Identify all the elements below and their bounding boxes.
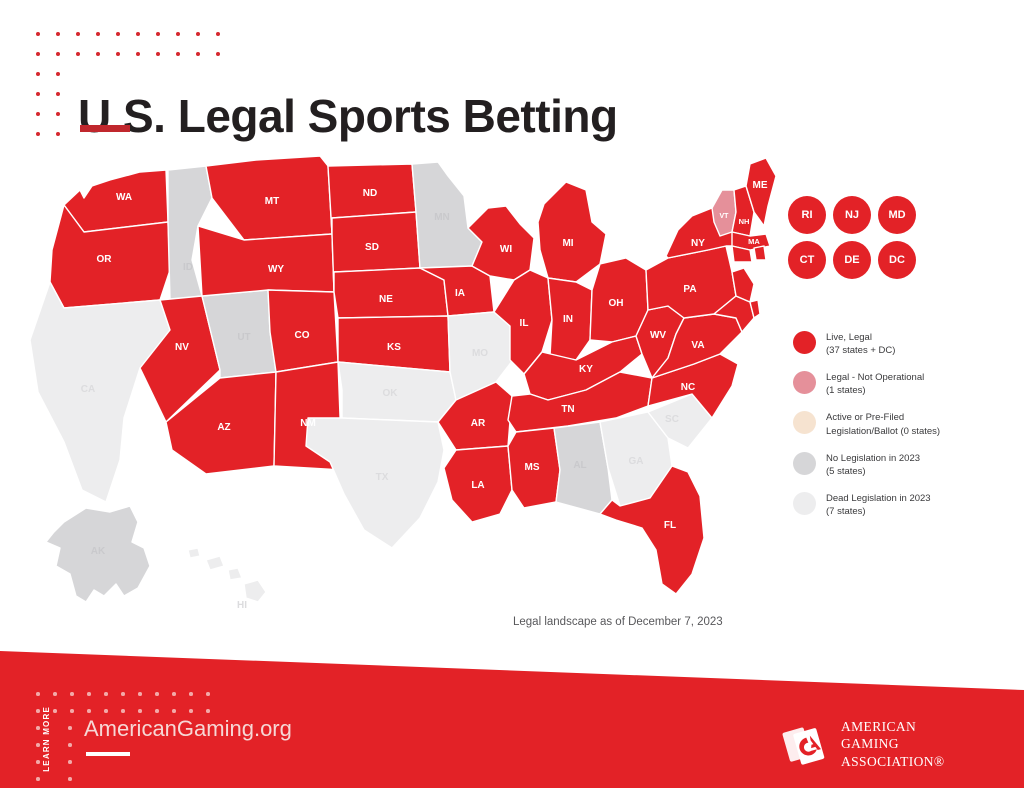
footer-dot: [36, 777, 40, 781]
footer-dot: [36, 709, 40, 713]
circle-state-label: RI: [802, 209, 813, 221]
footer-dot: [68, 726, 72, 730]
legend-item-label: No Legislation in 2023: [826, 452, 920, 465]
header-dot: [56, 52, 60, 56]
state-MI[interactable]: [538, 182, 606, 282]
footer-dot: [68, 777, 72, 781]
legend-item-count: (37 states + DC): [826, 344, 895, 357]
legal-landscape-caption: Legal landscape as of December 7, 2023: [513, 616, 723, 628]
circle-state-ri[interactable]: RI: [788, 196, 826, 234]
state-OK[interactable]: [338, 362, 456, 422]
website-link-underline: [86, 752, 130, 756]
circle-state-label: DE: [844, 254, 859, 266]
circle-state-label: NJ: [845, 209, 859, 221]
state-MN[interactable]: [412, 162, 482, 268]
circle-state-dc[interactable]: DC: [878, 241, 916, 279]
header-dot: [76, 52, 80, 56]
aga-line-3: ASSOCIATION®: [841, 753, 945, 770]
aga-logo[interactable]: AMERICAN GAMING ASSOCIATION®: [782, 718, 945, 770]
footer-dot: [53, 692, 57, 696]
legend-item-label: Live, Legal: [826, 331, 895, 344]
header-dot: [176, 32, 180, 36]
header-dot: [36, 112, 40, 116]
state-CO[interactable]: [268, 290, 338, 372]
footer-dot: [206, 692, 210, 696]
header-dot: [156, 32, 160, 36]
circle-state-label: MD: [888, 209, 905, 221]
footer-dot: [87, 692, 91, 696]
page-title: U.S. Legal Sports Betting: [78, 93, 618, 139]
legend-item-text: No Legislation in 2023(5 states): [826, 451, 920, 478]
legend-item-count: (5 states): [826, 465, 920, 478]
circle-state-label: CT: [800, 254, 815, 266]
header-dot: [196, 52, 200, 56]
circle-state-ct[interactable]: CT: [788, 241, 826, 279]
state-AK[interactable]: [46, 506, 150, 602]
aga-line-2: GAMING: [841, 735, 945, 752]
legend-item-text: Active or Pre-FiledLegislation/Ballot (0…: [826, 410, 940, 437]
footer-dot: [172, 692, 176, 696]
state-NE[interactable]: [334, 268, 448, 318]
footer-dot: [138, 709, 142, 713]
state-WA[interactable]: [64, 170, 168, 232]
header-dot: [216, 52, 220, 56]
circle-state-md[interactable]: MD: [878, 196, 916, 234]
map-label-HI: HI: [237, 600, 247, 611]
footer-dot: [68, 743, 72, 747]
circle-state-group: RINJMDCTDEDC: [788, 196, 928, 280]
header-dot: [116, 52, 120, 56]
footer-dot: [53, 709, 57, 713]
legend-item-text: Live, Legal(37 states + DC): [826, 330, 895, 357]
aga-logo-text: AMERICAN GAMING ASSOCIATION®: [841, 718, 945, 770]
us-map-svg: WA OR CA ID NV UT AZ NM MT WY CO ND SD N…: [20, 150, 780, 630]
footer-dot: [189, 692, 193, 696]
footer-dot: [189, 709, 193, 713]
header-dot: [56, 92, 60, 96]
us-map: WA OR CA ID NV UT AZ NM MT WY CO ND SD N…: [20, 150, 780, 630]
circle-state-de[interactable]: DE: [833, 241, 871, 279]
footer-dot: [70, 692, 74, 696]
legend-item-2[interactable]: Legal - Not Operational(1 states): [793, 370, 993, 397]
legend-swatch-prefiled: [793, 411, 816, 434]
legend-item-text: Legal - Not Operational(1 states): [826, 370, 924, 397]
state-HI[interactable]: [188, 548, 266, 602]
state-MO[interactable]: [448, 312, 516, 400]
footer-dot: [36, 692, 40, 696]
header-dot: [36, 132, 40, 136]
circle-state-label: DC: [889, 254, 905, 266]
legend-swatch-not-operational: [793, 371, 816, 394]
header-dot: [116, 32, 120, 36]
aga-line-1: AMERICAN: [841, 718, 945, 735]
footer-dot: [172, 709, 176, 713]
legend-item-count: (1 states): [826, 384, 924, 397]
state-MS[interactable]: [508, 428, 560, 508]
header-dot: [36, 72, 40, 76]
header-dot: [176, 52, 180, 56]
legend-item-3[interactable]: Active or Pre-FiledLegislation/Ballot (0…: [793, 410, 993, 437]
footer-dot: [121, 709, 125, 713]
state-CA[interactable]: [30, 282, 170, 502]
header-dot: [56, 112, 60, 116]
footer-dot: [68, 760, 72, 764]
legend-item-count: (7 states): [826, 505, 931, 518]
legend-item-5[interactable]: Dead Legislation in 2023(7 states): [793, 491, 993, 518]
circle-state-nj[interactable]: NJ: [833, 196, 871, 234]
header-dot: [56, 72, 60, 76]
legend-swatch-dead-legislation: [793, 492, 816, 515]
legend-item-label: Active or Pre-Filed: [826, 411, 940, 424]
state-IN[interactable]: [548, 278, 592, 360]
header-dot: [196, 32, 200, 36]
footer-dot: [36, 760, 40, 764]
header-dot: [56, 32, 60, 36]
footer-dot: [206, 709, 210, 713]
header-dot: [76, 32, 80, 36]
header-dot: [96, 32, 100, 36]
learn-more-label: LEARN MORE: [42, 706, 51, 772]
footer-dot: [104, 709, 108, 713]
website-link[interactable]: AmericanGaming.org: [84, 716, 292, 742]
header-dot: [36, 32, 40, 36]
legend-swatch-live-legal: [793, 331, 816, 354]
legend-item-1[interactable]: Live, Legal(37 states + DC): [793, 330, 993, 357]
header-dot: [56, 132, 60, 136]
header-dot: [216, 32, 220, 36]
header-dot: [36, 92, 40, 96]
legend-swatch-no-legislation: [793, 452, 816, 475]
footer-dot: [138, 692, 142, 696]
footer-dot: [36, 743, 40, 747]
legend-item-text: Dead Legislation in 2023(7 states): [826, 491, 931, 518]
infographic-root: U.S. Legal Sports Betting: [0, 0, 1024, 788]
legend-item-label: Dead Legislation in 2023: [826, 492, 931, 505]
legend-item-label: Legal - Not Operational: [826, 371, 924, 384]
title-underline-rule: [80, 125, 130, 132]
footer-dot: [36, 726, 40, 730]
header-dot: [136, 32, 140, 36]
map-legend: Live, Legal(37 states + DC)Legal - Not O…: [793, 330, 993, 531]
header-dot: [156, 52, 160, 56]
footer-dot: [155, 709, 159, 713]
footer-dot: [121, 692, 125, 696]
header-dot: [136, 52, 140, 56]
footer-dot: [104, 692, 108, 696]
state-LA[interactable]: [444, 446, 512, 522]
state-TX[interactable]: [306, 418, 444, 548]
state-RI-shape[interactable]: [754, 246, 766, 260]
state-MT[interactable]: [206, 156, 332, 240]
header-dot: [96, 52, 100, 56]
legend-item-4[interactable]: No Legislation in 2023(5 states): [793, 451, 993, 478]
legend-item-count: Legislation/Ballot (0 states): [826, 425, 940, 438]
header-dot: [36, 52, 40, 56]
footer-dot: [87, 709, 91, 713]
footer-dot: [155, 692, 159, 696]
footer-dot: [70, 709, 74, 713]
aga-logo-mark-icon: [782, 720, 830, 768]
